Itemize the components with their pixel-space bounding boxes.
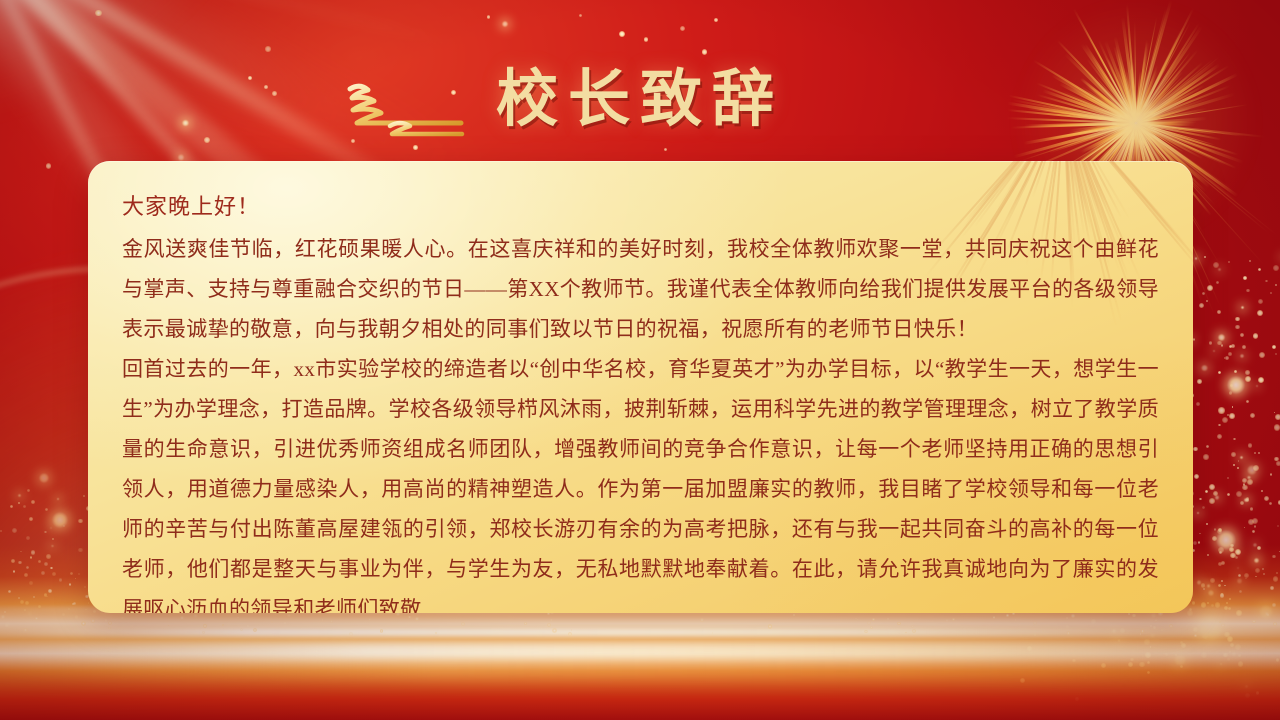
- greeting-line: 大家晚上好！: [122, 187, 1159, 227]
- page-title: 校长致辞: [0, 58, 1280, 142]
- speech-card: 大家晚上好！ 金风送爽佳节临，红花硕果暖人心。在这喜庆祥和的美好时刻，我校全体教…: [88, 161, 1193, 613]
- speech-paragraph-2: 回首过去的一年，xx市实验学校的缔造者以“创中华名校，育华夏英才”为办学目标，以…: [122, 349, 1159, 613]
- title-row: 校长致辞: [0, 58, 1280, 142]
- presentation-slide: 校长致辞 大家晚上好！ 金风送爽佳节临，红花硕果暖人心。在这喜庆祥和的美好时刻，…: [0, 0, 1280, 720]
- speech-paragraph-1: 金风送爽佳节临，红花硕果暖人心。在这喜庆祥和的美好时刻，我校全体教师欢聚一堂，共…: [122, 229, 1159, 349]
